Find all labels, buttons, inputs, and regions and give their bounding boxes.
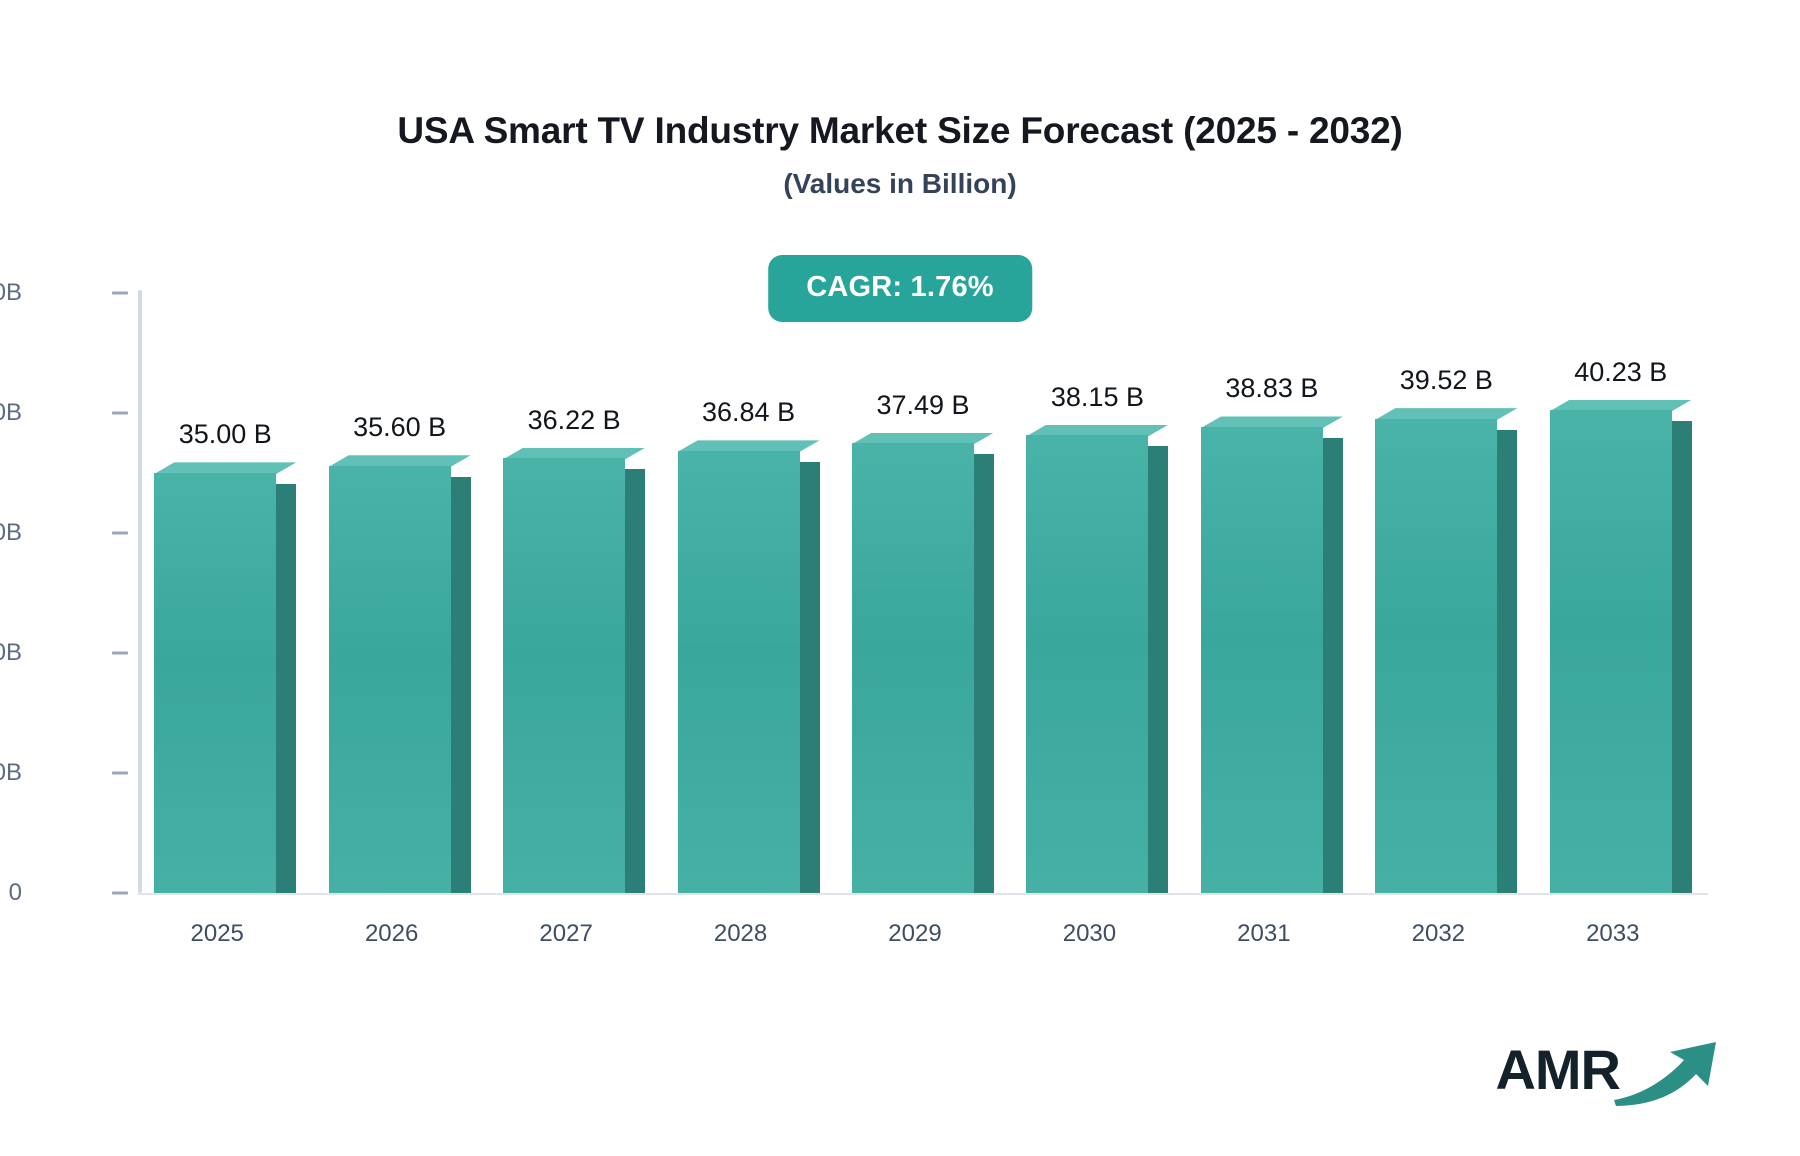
bar-front-face	[678, 451, 800, 893]
bar-side-face	[276, 484, 296, 893]
bar	[1026, 435, 1148, 893]
bar-side-face	[1323, 438, 1343, 893]
bar-side-face	[625, 469, 645, 893]
bar	[1201, 427, 1323, 893]
bar	[503, 458, 625, 893]
y-axis-line	[138, 290, 142, 893]
y-axis-tick-mark	[112, 892, 128, 895]
bar	[1550, 410, 1672, 893]
growth-arrow-icon	[1612, 1038, 1722, 1108]
bar-front-face	[1026, 435, 1148, 893]
chart-canvas: USA Smart TV Industry Market Size Foreca…	[0, 0, 1800, 1156]
x-axis-tick-label: 2033	[1493, 920, 1733, 948]
y-axis-tick-mark	[112, 292, 128, 295]
bar-front-face	[1375, 419, 1497, 893]
x-axis-line	[138, 893, 1708, 895]
chart-subtitle: (Values in Billion)	[0, 168, 1800, 200]
bar-front-face	[503, 458, 625, 893]
bar-side-face	[1497, 430, 1517, 893]
y-axis-tick-label: 40.0B	[0, 399, 22, 427]
y-axis-tick-mark	[112, 652, 128, 655]
amr-wordmark: AMR	[1495, 1042, 1620, 1098]
bar-front-face	[154, 473, 276, 893]
y-axis-tick-label: 50.0B	[0, 279, 22, 307]
y-axis-tick-label: 10.0B	[0, 759, 22, 787]
bar	[678, 451, 800, 893]
bar	[852, 443, 974, 893]
bar-side-face	[1148, 446, 1168, 893]
bar-front-face	[1201, 427, 1323, 893]
y-axis-tick-mark	[112, 772, 128, 775]
y-axis-tick-mark	[112, 412, 128, 415]
y-axis-tick-label: 20.0B	[0, 639, 22, 667]
amr-logo: AMR	[1495, 1032, 1722, 1108]
bar-side-face	[451, 477, 471, 893]
page-title: USA Smart TV Industry Market Size Foreca…	[0, 110, 1800, 152]
bar-side-face	[800, 462, 820, 893]
bar	[329, 466, 451, 893]
plot-area: 010.0B20.0B30.0B40.0B50.0B 35.00 B35.60 …	[138, 285, 1708, 900]
y-axis-tick-label: 0	[0, 879, 22, 907]
bar-front-face	[1550, 410, 1672, 893]
y-axis-tick-mark	[112, 532, 128, 535]
bar	[154, 473, 276, 893]
bar-front-face	[852, 443, 974, 893]
bar	[1375, 419, 1497, 893]
bar-front-face	[329, 466, 451, 893]
bar-side-face	[1672, 421, 1692, 893]
y-axis-tick-label: 30.0B	[0, 519, 22, 547]
bar-side-face	[974, 454, 994, 893]
bar-value-label: 40.23 B	[1501, 357, 1741, 388]
